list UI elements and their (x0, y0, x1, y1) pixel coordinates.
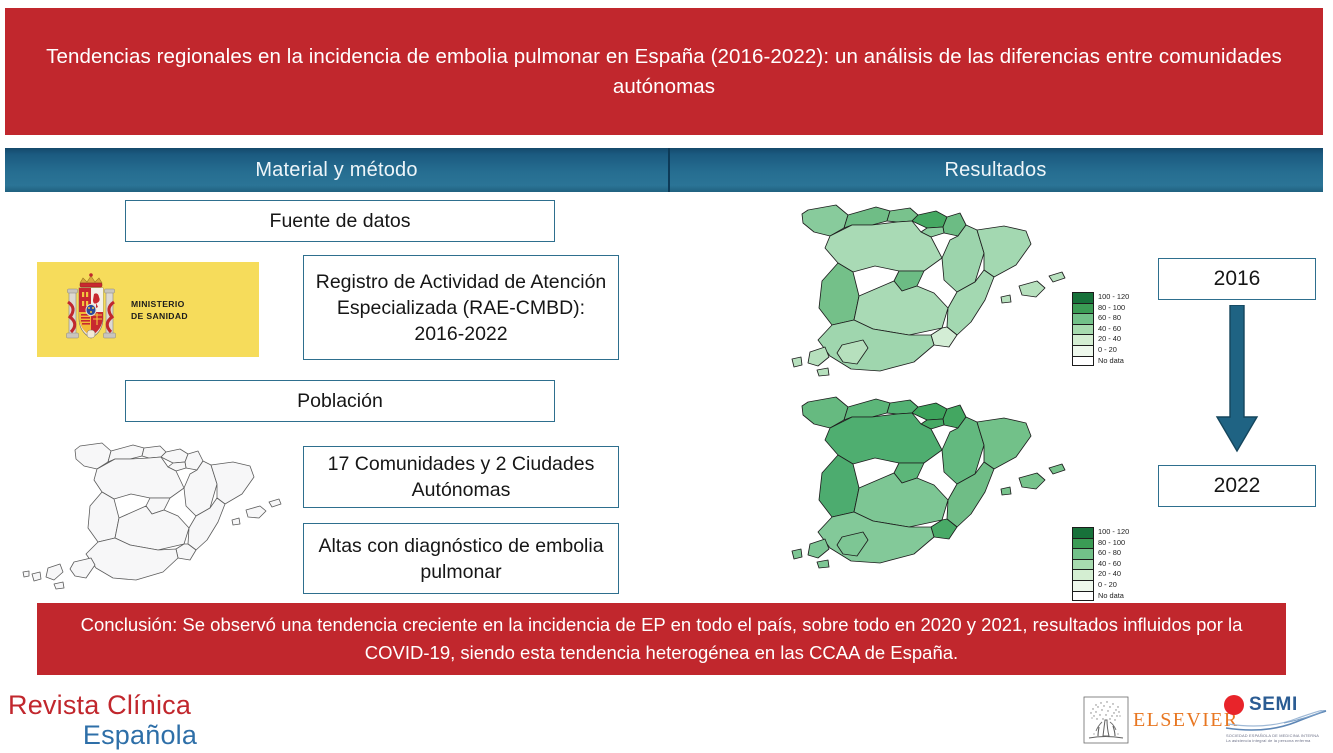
journal-logo-line-1: Revista Clínica (8, 690, 238, 720)
legend-swatch (1072, 292, 1094, 303)
legend-row: No data (1072, 591, 1144, 602)
legend-row: 100 - 120 (1072, 527, 1144, 538)
legend-swatch (1072, 538, 1094, 549)
heading-box-population: Población (125, 380, 555, 422)
info-box-communities: 17 Comunidades y 2 Ciudades Autónomas (303, 446, 619, 508)
region-baleares-ibiza (1001, 295, 1011, 303)
region-catalunya (977, 418, 1031, 469)
heading-box-data-source: Fuente de datos (125, 200, 555, 242)
legend-row: 40 - 60 (1072, 559, 1144, 570)
region-baleares-mallorca (1019, 281, 1045, 297)
spain-regions-outline-map-icon (18, 432, 286, 597)
conclusion-text: Conclusión: Se observó una tendencia cre… (55, 611, 1268, 667)
legend-label: 20 - 40 (1098, 334, 1121, 345)
legend-row: No data (1072, 356, 1144, 367)
year-box-from: 2016 (1158, 258, 1316, 300)
section-header-material: Material y método (5, 148, 668, 192)
ministry-logo-line-1: MINISTERIO (131, 298, 188, 310)
map-legend-2016: 100 - 120 80 - 100 60 - 80 40 - 60 20 - … (1072, 292, 1144, 366)
legend-swatch (1072, 548, 1094, 559)
choropleth-map-2022 (790, 388, 1100, 573)
year-box-from-label: 2016 (1208, 266, 1267, 292)
info-box-communities-label: 17 Comunidades y 2 Ciudades Autónomas (304, 451, 618, 503)
map-legend-2022: 100 - 120 80 - 100 60 - 80 40 - 60 20 - … (1072, 527, 1144, 601)
region-baleares-ibiza (1001, 487, 1011, 495)
elsevier-logo: ELSEVIER (1083, 694, 1239, 746)
legend-row: 100 - 120 (1072, 292, 1144, 303)
semi-subtitle-line-2: La asistencia integral de la persona enf… (1226, 738, 1319, 743)
conclusion-bar: Conclusión: Se observó una tendencia cre… (37, 603, 1286, 675)
info-box-discharges: Altas con diagnóstico de embolia pulmona… (303, 523, 619, 594)
region-extremadura (819, 455, 859, 517)
region-canarias-gran-canaria (817, 368, 829, 376)
elsevier-logo-text: ELSEVIER (1133, 709, 1239, 732)
down-arrow-icon (1213, 305, 1261, 453)
page-title: Tendencias regionales en la incidencia d… (27, 42, 1301, 102)
legend-label: 80 - 100 (1098, 303, 1125, 314)
legend-swatch (1072, 559, 1094, 570)
journal-logo: Revista Clínica Española (8, 690, 238, 752)
legend-label: 40 - 60 (1098, 324, 1121, 335)
region-pais-vasco (912, 211, 947, 228)
legend-row: 40 - 60 (1072, 324, 1144, 335)
region-canarias-tenerife (808, 539, 829, 558)
legend-swatch (1072, 591, 1094, 602)
legend-row: 20 - 40 (1072, 569, 1144, 580)
legend-row: 60 - 80 (1072, 548, 1144, 559)
info-box-discharges-label: Altas con diagnóstico de embolia pulmona… (304, 533, 618, 585)
legend-row: 80 - 100 (1072, 303, 1144, 314)
section-label-material: Material y método (255, 159, 417, 182)
legend-label: 60 - 80 (1098, 313, 1121, 324)
legend-row: 20 - 40 (1072, 334, 1144, 345)
year-box-to-label: 2022 (1208, 473, 1267, 499)
legend-row: 0 - 20 (1072, 345, 1144, 356)
legend-label: 0 - 20 (1098, 345, 1117, 356)
legend-swatch (1072, 569, 1094, 580)
section-header-results: Resultados (668, 148, 1323, 192)
section-divider (668, 148, 670, 192)
legend-swatch (1072, 334, 1094, 345)
region-catalunya (977, 226, 1031, 277)
legend-label: 100 - 120 (1098, 527, 1129, 538)
region-canarias-tenerife (808, 347, 829, 366)
journal-logo-line-2: Española (8, 720, 238, 750)
heading-box-data-source-label: Fuente de datos (264, 208, 417, 234)
ministry-logo-line-2: DE SANIDAD (131, 310, 188, 322)
region-baleares-mallorca (1019, 473, 1045, 489)
legend-label: 100 - 120 (1098, 292, 1129, 303)
region-pais-vasco (912, 403, 947, 420)
legend-swatch (1072, 356, 1094, 367)
legend-label: No data (1098, 591, 1124, 602)
legend-swatch (1072, 324, 1094, 335)
region-canarias-gomera (792, 357, 802, 367)
section-label-results: Resultados (944, 159, 1046, 182)
region-baleares-menorca (1049, 272, 1065, 282)
legend-label: 0 - 20 (1098, 580, 1117, 591)
map-2022-regions (792, 397, 1065, 568)
region-canarias-gran-canaria (817, 560, 829, 568)
year-box-to: 2022 (1158, 465, 1316, 507)
legend-row: 0 - 20 (1072, 580, 1144, 591)
info-box-data-source-registry: Registro de Actividad de Atención Especi… (303, 255, 619, 360)
ministry-logo-text: MINISTERIO DE SANIDAD (131, 298, 188, 322)
semi-logo: SEMI SOCIEDAD ESPAÑOLA DE MEDICINA INTER… (1224, 692, 1328, 748)
legend-label: 40 - 60 (1098, 559, 1121, 570)
region-canarias-gomera (792, 549, 802, 559)
legend-label: 60 - 80 (1098, 548, 1121, 559)
poster-title-bar: Tendencias regionales en la incidencia d… (5, 8, 1323, 135)
semi-subtitle: SOCIEDAD ESPAÑOLA DE MEDICINA INTERNA La… (1226, 733, 1319, 744)
info-box-data-source-registry-label: Registro de Actividad de Atención Especi… (304, 269, 618, 347)
map-2016-regions (792, 205, 1065, 376)
semi-swoosh-icon (1224, 710, 1328, 732)
region-baleares-menorca (1049, 464, 1065, 474)
heading-box-population-label: Población (291, 388, 389, 414)
legend-swatch (1072, 580, 1094, 591)
ministry-of-health-logo: MINISTERIO DE SANIDAD (37, 262, 259, 357)
spain-coat-of-arms-icon (63, 272, 119, 348)
legend-swatch (1072, 527, 1094, 538)
legend-swatch (1072, 345, 1094, 356)
section-header-bar: Material y método Resultados (5, 148, 1323, 192)
legend-label: 20 - 40 (1098, 569, 1121, 580)
choropleth-map-2016 (790, 196, 1100, 381)
legend-row: 80 - 100 (1072, 538, 1144, 549)
legend-swatch (1072, 303, 1094, 314)
legend-label: No data (1098, 356, 1124, 367)
legend-label: 80 - 100 (1098, 538, 1125, 549)
legend-row: 60 - 80 (1072, 313, 1144, 324)
legend-swatch (1072, 313, 1094, 324)
elsevier-tree-icon (1083, 696, 1129, 744)
region-extremadura (819, 263, 859, 325)
